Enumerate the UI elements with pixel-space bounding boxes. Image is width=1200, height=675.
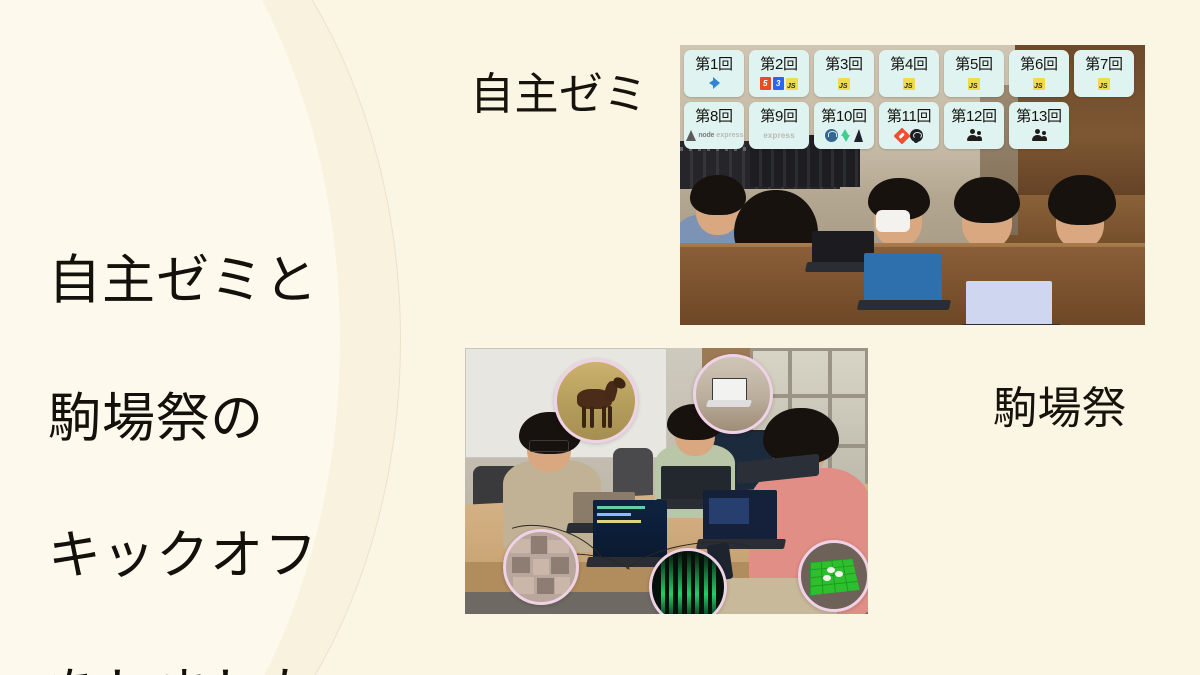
supabase-icon <box>840 129 851 142</box>
git-icon <box>893 127 910 144</box>
card-icons <box>1033 77 1045 90</box>
card-icons: express <box>763 129 794 142</box>
photo-komabasai-meeting <box>465 348 868 614</box>
bubble-matrix-rain[interactable] <box>649 548 727 614</box>
card-session-8[interactable]: 第8回 node express <box>684 102 744 149</box>
curriculum-card-grid: 第1回 第2回 第3回 <box>684 50 1134 154</box>
javascript-icon <box>786 78 798 90</box>
card-icons: node express <box>684 129 743 142</box>
javascript-icon <box>903 78 915 90</box>
card-session-13[interactable]: 第13回 <box>1009 102 1069 149</box>
card-session-7[interactable]: 第7回 <box>1074 50 1134 97</box>
card-icons <box>967 129 981 142</box>
laptop-2 <box>864 253 942 301</box>
card-label: 第7回 <box>1085 57 1122 72</box>
face-mask <box>876 210 910 232</box>
card-label: 第9回 <box>760 109 797 124</box>
express-wordmark: express <box>716 132 743 139</box>
card-label: 第11回 <box>887 109 931 124</box>
card-label: 第4回 <box>890 57 927 72</box>
github-icon <box>910 129 923 142</box>
card-label: 第8回 <box>695 109 732 124</box>
section-label-komabasai: 駒場祭 <box>993 372 1126 436</box>
nodejs-icon <box>684 129 696 142</box>
bubble-othello-game[interactable] <box>798 540 868 612</box>
javascript-icon <box>838 78 850 90</box>
card-icons <box>838 77 850 90</box>
page-title: 自主ゼミと 駒場祭の キックオフ をしました <box>48 178 408 675</box>
javascript-icon <box>1033 78 1045 90</box>
card-session-11[interactable]: 第11回 <box>879 102 939 149</box>
express-icon: express <box>763 131 794 140</box>
card-icons <box>1098 77 1110 90</box>
card-session-10[interactable]: 第10回 <box>814 102 874 149</box>
card-label: 第3回 <box>825 57 862 72</box>
card-label: 第12回 <box>951 109 997 124</box>
section-label-jishuzemi: 自主ゼミ <box>470 58 648 122</box>
postgresql-icon <box>825 129 838 142</box>
card-session-3[interactable]: 第3回 <box>814 50 874 97</box>
presentation-slide: 自主ゼミと 駒場祭の キックオフ をしました 自主ゼミ 駒場祭 <box>0 0 1200 675</box>
people-icon <box>967 129 981 142</box>
bubble-maze-game[interactable] <box>503 529 579 605</box>
nodejs-wordmark: node <box>698 132 714 139</box>
card-session-5[interactable]: 第5回 <box>944 50 1004 97</box>
people-icon <box>1032 129 1046 142</box>
card-session-9[interactable]: 第9回 express <box>749 102 809 149</box>
card-label: 第6回 <box>1020 57 1057 72</box>
card-icons <box>760 77 798 90</box>
title-line-3: キックオフ <box>48 522 408 591</box>
title-line-4: をしました <box>48 660 408 675</box>
title-line-2: 駒場祭の <box>48 385 408 454</box>
card-session-1[interactable]: 第1回 <box>684 50 744 97</box>
title-line-1: 自主ゼミと <box>48 247 408 316</box>
photo-jishuzemi-classroom: 第1回 第2回 第3回 <box>680 45 1145 325</box>
vscode-icon <box>708 77 721 90</box>
card-session-4[interactable]: 第4回 <box>879 50 939 97</box>
card-icons <box>1032 129 1046 142</box>
bubble-horse-photo[interactable] <box>554 359 638 443</box>
card-label: 第2回 <box>760 57 797 72</box>
card-session-2[interactable]: 第2回 <box>749 50 809 97</box>
prisma-icon <box>853 129 864 142</box>
laptop-c <box>593 500 667 558</box>
card-icons <box>968 77 980 90</box>
card-label: 第13回 <box>1016 109 1062 124</box>
card-label: 第5回 <box>955 57 992 72</box>
eyeglasses <box>529 440 569 452</box>
card-icons <box>708 77 721 90</box>
card-label: 第1回 <box>695 57 732 72</box>
card-label: 第10回 <box>821 109 867 124</box>
laptop-3 <box>966 281 1052 325</box>
curriculum-row-1: 第1回 第2回 第3回 <box>684 50 1134 97</box>
card-icons <box>903 77 915 90</box>
card-icons <box>896 129 923 142</box>
card-icons <box>825 129 864 142</box>
card-session-12[interactable]: 第12回 <box>944 102 1004 149</box>
curriculum-row-2: 第8回 node express 第9回 express 第10回 <box>684 102 1134 149</box>
javascript-icon <box>1098 78 1110 90</box>
javascript-icon <box>968 78 980 90</box>
css3-icon <box>773 77 784 90</box>
laptop-d <box>703 490 777 540</box>
bubble-laptop-photo[interactable] <box>693 354 773 434</box>
html5-icon <box>760 77 771 90</box>
card-session-6[interactable]: 第6回 <box>1009 50 1069 97</box>
